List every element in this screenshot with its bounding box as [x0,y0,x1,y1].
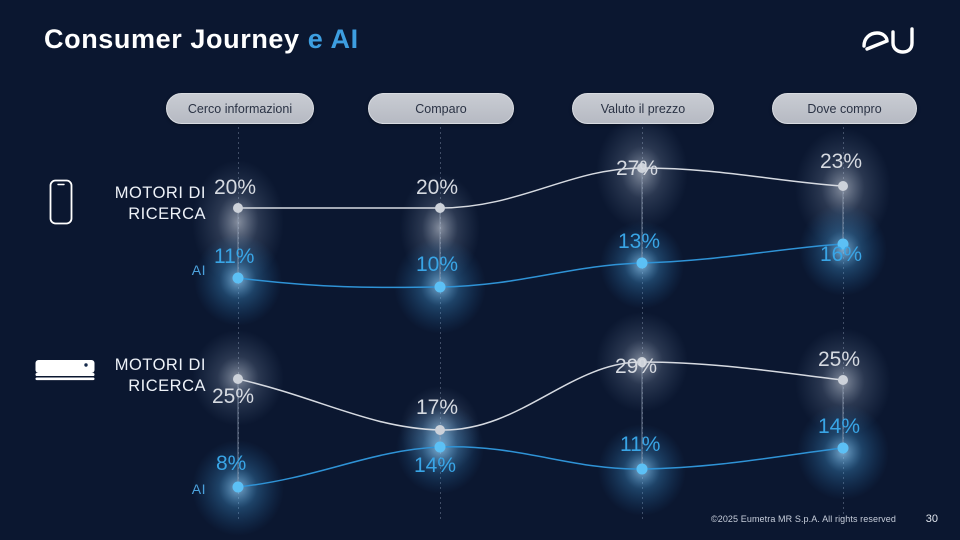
row-1-connectors [238,168,843,287]
slide-canvas: Consumer Journey e AI Cerco informazioni… [0,0,960,540]
row-1-glows [192,114,891,334]
copyright-text: ©2025 Eumetra MR S.p.A. All rights reser… [711,514,896,524]
row-2-ai-points [233,442,849,493]
row-2-ai-line [238,447,843,487]
row-2-glows [192,312,891,536]
row-1-ai-line [238,244,843,287]
page-number: 30 [926,513,938,525]
row-1-ai-points [233,239,849,293]
row-2-search-line [238,362,843,430]
row-1-search-line [238,168,843,208]
row-1-search-points [233,163,848,213]
journey-line-chart [0,0,960,540]
